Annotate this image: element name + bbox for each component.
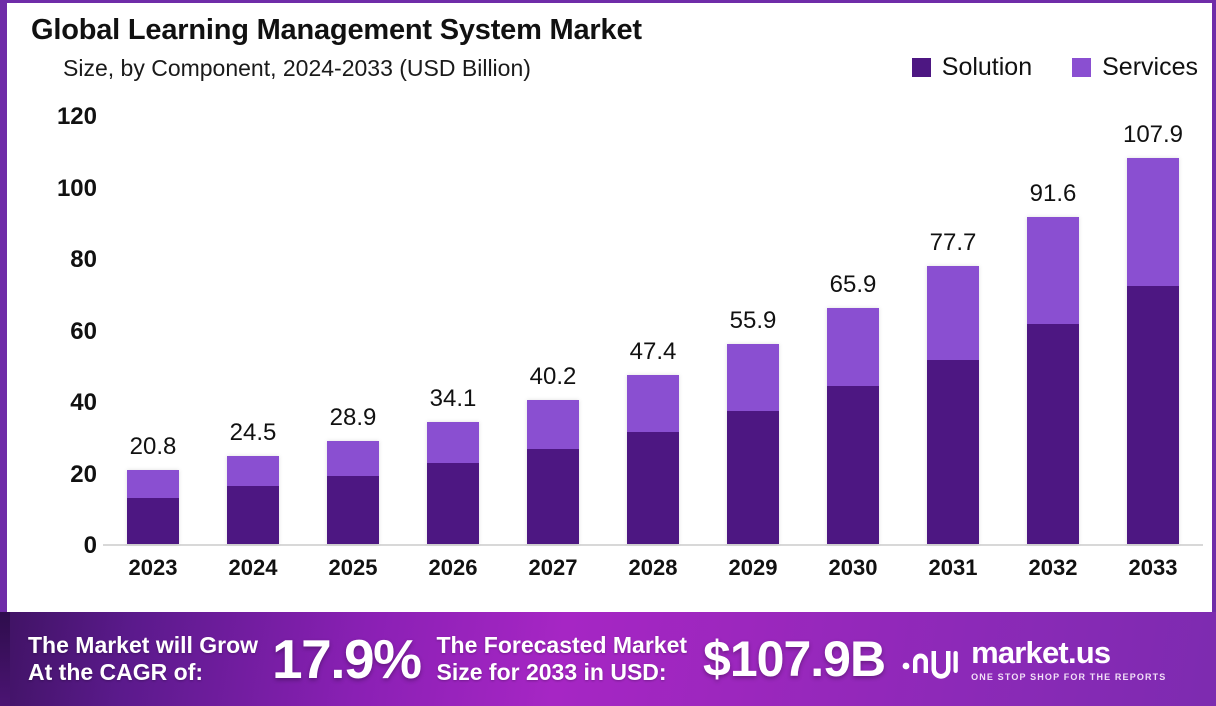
bar-segment-solution[interactable]	[327, 476, 379, 544]
bar-segment-solution[interactable]	[927, 360, 979, 544]
bar-segment-solution[interactable]	[827, 386, 879, 544]
chart-subtitle: Size, by Component, 2024-2033 (USD Billi…	[63, 55, 642, 82]
bar-group[interactable]: 77.7	[927, 117, 979, 544]
x-axis-label: 2026	[429, 555, 478, 581]
bar-segment-services[interactable]	[727, 344, 779, 411]
x-axis-label: 2023	[129, 555, 178, 581]
chart-legend: SolutionServices	[912, 53, 1198, 82]
stacked-bar[interactable]: 107.9	[1127, 158, 1179, 544]
y-axis-tick: 80	[25, 246, 97, 274]
forecast-caption: The Forecasted MarketSize for 2033 in US…	[437, 632, 688, 686]
y-axis-tick: 60	[25, 318, 97, 346]
stacked-bar[interactable]: 20.8	[127, 470, 179, 544]
stacked-bar[interactable]: 91.6	[1027, 217, 1079, 544]
y-axis-tick: 40	[25, 389, 97, 417]
bar-segment-solution[interactable]	[1127, 286, 1179, 544]
bar-group[interactable]: 40.2	[527, 117, 579, 544]
x-axis-label: 2029	[729, 555, 778, 581]
bar-total-label: 55.9	[730, 307, 777, 335]
bar-segment-services[interactable]	[1127, 158, 1179, 286]
stacked-bar[interactable]: 65.9	[827, 308, 879, 544]
x-axis: 2023202420252026202720282029203020312032…	[103, 555, 1203, 595]
bar-segment-solution[interactable]	[1027, 324, 1079, 544]
bar-total-label: 40.2	[530, 363, 577, 391]
x-axis-label: 2030	[829, 555, 878, 581]
bar-total-label: 28.9	[330, 404, 377, 432]
stacked-bar[interactable]: 24.5	[227, 456, 279, 544]
bar-total-label: 34.1	[430, 385, 477, 413]
bar-segment-services[interactable]	[327, 441, 379, 476]
market-us-logo-icon	[901, 639, 959, 679]
cagr-caption: The Market will GrowAt the CAGR of:	[28, 632, 258, 686]
chart-header: Global Learning Management System Market…	[7, 3, 1216, 103]
bar-total-label: 65.9	[830, 271, 877, 299]
bar-total-label: 20.8	[130, 433, 177, 461]
x-axis-label: 2031	[929, 555, 978, 581]
bar-total-label: 77.7	[930, 229, 977, 257]
page-title: Global Learning Management System Market	[31, 15, 642, 47]
bar-segment-services[interactable]	[527, 400, 579, 449]
bar-group[interactable]: 24.5	[227, 117, 279, 544]
bar-total-label: 47.4	[630, 338, 677, 366]
x-axis-label: 2025	[329, 555, 378, 581]
brand-name: market.us	[971, 637, 1166, 668]
x-axis-label: 2024	[229, 555, 278, 581]
legend-item-services[interactable]: Services	[1072, 53, 1198, 82]
bar-group[interactable]: 91.6	[1027, 117, 1079, 544]
bar-segment-solution[interactable]	[227, 486, 279, 544]
title-block: Global Learning Management System Market…	[31, 15, 642, 82]
bar-segment-services[interactable]	[827, 308, 879, 386]
x-axis-label: 2033	[1129, 555, 1178, 581]
bar-segment-services[interactable]	[227, 456, 279, 486]
brand-tagline: ONE STOP SHOP FOR THE REPORTS	[971, 672, 1166, 682]
bar-segment-solution[interactable]	[727, 411, 779, 544]
legend-item-solution[interactable]: Solution	[912, 53, 1032, 82]
infographic-root: Global Learning Management System Market…	[0, 0, 1216, 706]
x-axis-label: 2027	[529, 555, 578, 581]
footer-banner: The Market will GrowAt the CAGR of: 17.9…	[0, 612, 1216, 706]
stacked-bar[interactable]: 28.9	[327, 441, 379, 544]
chart-panel: Global Learning Management System Market…	[0, 0, 1216, 612]
bar-total-label: 24.5	[230, 419, 277, 447]
legend-swatch-icon	[912, 58, 931, 77]
x-axis-label: 2028	[629, 555, 678, 581]
bar-group[interactable]: 55.9	[727, 117, 779, 544]
stacked-bar[interactable]: 40.2	[527, 400, 579, 544]
y-axis: 020406080100120	[25, 117, 97, 546]
y-axis-tick: 120	[25, 103, 97, 131]
bar-segment-solution[interactable]	[627, 432, 679, 544]
forecast-value: $107.9B	[703, 630, 885, 688]
bar-segment-services[interactable]	[627, 375, 679, 432]
legend-label: Solution	[942, 53, 1032, 82]
legend-swatch-icon	[1072, 58, 1091, 77]
y-axis-tick: 100	[25, 175, 97, 203]
brand-logo[interactable]: market.us ONE STOP SHOP FOR THE REPORTS	[901, 637, 1166, 682]
y-axis-tick: 0	[25, 532, 97, 560]
brand-text: market.us ONE STOP SHOP FOR THE REPORTS	[971, 637, 1166, 682]
bar-group[interactable]: 28.9	[327, 117, 379, 544]
stacked-bar[interactable]: 55.9	[727, 344, 779, 544]
bar-group[interactable]: 47.4	[627, 117, 679, 544]
bar-segment-services[interactable]	[427, 422, 479, 463]
plot-area: 020406080100120 20.824.528.934.140.247.4…	[7, 103, 1216, 615]
bar-segment-services[interactable]	[927, 266, 979, 359]
bar-segment-solution[interactable]	[127, 498, 179, 544]
y-axis-tick: 20	[25, 461, 97, 489]
bar-group[interactable]: 107.9	[1127, 117, 1179, 544]
bar-group[interactable]: 65.9	[827, 117, 879, 544]
cagr-value: 17.9%	[272, 627, 420, 691]
stacked-bar[interactable]: 77.7	[927, 266, 979, 544]
bar-segment-services[interactable]	[1027, 217, 1079, 324]
bar-segment-services[interactable]	[127, 470, 179, 499]
bar-total-label: 107.9	[1123, 121, 1183, 149]
legend-label: Services	[1102, 53, 1198, 82]
stacked-bar[interactable]: 47.4	[627, 375, 679, 544]
bar-segment-solution[interactable]	[527, 449, 579, 544]
bar-group[interactable]: 34.1	[427, 117, 479, 544]
bar-segment-solution[interactable]	[427, 463, 479, 544]
bar-group[interactable]: 20.8	[127, 117, 179, 544]
bars-container: 20.824.528.934.140.247.455.965.977.791.6…	[103, 117, 1203, 546]
stacked-bar[interactable]: 34.1	[427, 422, 479, 544]
x-axis-label: 2032	[1029, 555, 1078, 581]
bar-total-label: 91.6	[1030, 180, 1077, 208]
